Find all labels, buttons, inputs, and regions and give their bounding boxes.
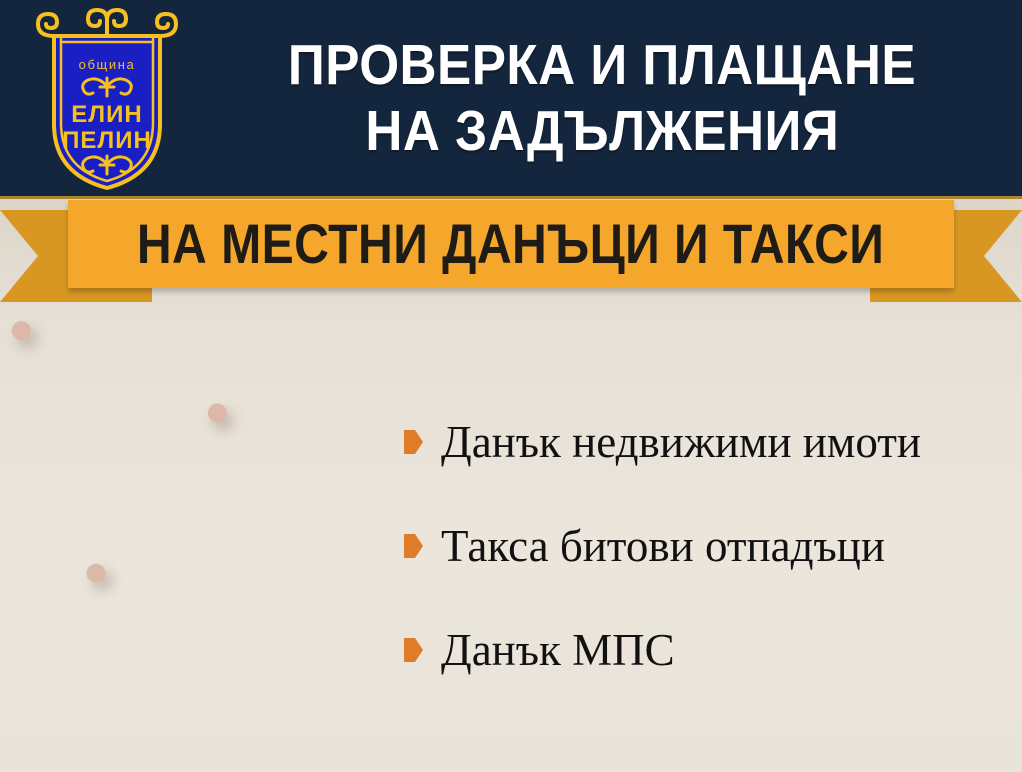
title-line-1: ПРОВЕРКА И ПЛАЩАНЕ	[288, 33, 916, 97]
poster-canvas: община ЕЛИН ПЕЛИН ПРОВЕ	[0, 0, 1022, 772]
list-item: Такса битови отпадъци	[404, 522, 1004, 570]
list-item: Данък МПС	[404, 626, 1004, 674]
arrow-bullet-icon	[404, 534, 423, 558]
list-item-label: Такса битови отпадъци	[441, 522, 885, 570]
tax-type-list: Данък недвижими имоти Такса битови отпад…	[404, 418, 1004, 674]
arrow-bullet-icon	[404, 430, 423, 454]
header-accent-rule	[0, 196, 1022, 199]
arrow-bullet-icon	[404, 638, 423, 662]
stamp-paper	[229, 414, 370, 555]
list-item-label: Данък МПС	[441, 626, 675, 674]
title-line-2: НА ЗАДЪЛЖЕНИЯ	[365, 99, 839, 163]
stamp-card-waste	[207, 392, 391, 576]
ribbon-main-panel: НА МЕСТНИ ДАНЪЦИ И ТАКСИ	[68, 200, 954, 288]
stamp-card-property	[11, 303, 229, 521]
crest-svg: община ЕЛИН ПЕЛИН	[24, 6, 190, 194]
crest-label-top: община	[79, 57, 136, 72]
list-item: Данък недвижими имоти	[404, 418, 1004, 466]
car-front-icon	[137, 594, 269, 707]
elin-pelin-coat-of-arms: община ЕЛИН ПЕЛИН	[24, 6, 190, 194]
stamp-frame	[207, 392, 391, 576]
stamp-frame	[11, 303, 229, 521]
stamp-paper	[33, 325, 208, 500]
ribbon-banner: НА МЕСТНИ ДАНЪЦИ И ТАКСИ	[0, 196, 1022, 308]
trash-bin-icon	[250, 431, 349, 537]
stamp-paper	[108, 556, 298, 746]
crest-label-line1: ЕЛИН	[71, 101, 142, 128]
list-item-label: Данък недвижими имоти	[441, 418, 921, 466]
crest-label-line2: ПЕЛИН	[62, 127, 152, 154]
ribbon-label: НА МЕСТНИ ДАНЪЦИ И ТАКСИ	[137, 215, 885, 273]
page-title: ПРОВЕРКА И ПЛАЩАНЕ НА ЗАДЪЛЖЕНИЯ	[196, 18, 1008, 178]
header-bar: община ЕЛИН ПЕЛИН ПРОВЕ	[0, 0, 1022, 199]
house-icon	[60, 357, 179, 467]
